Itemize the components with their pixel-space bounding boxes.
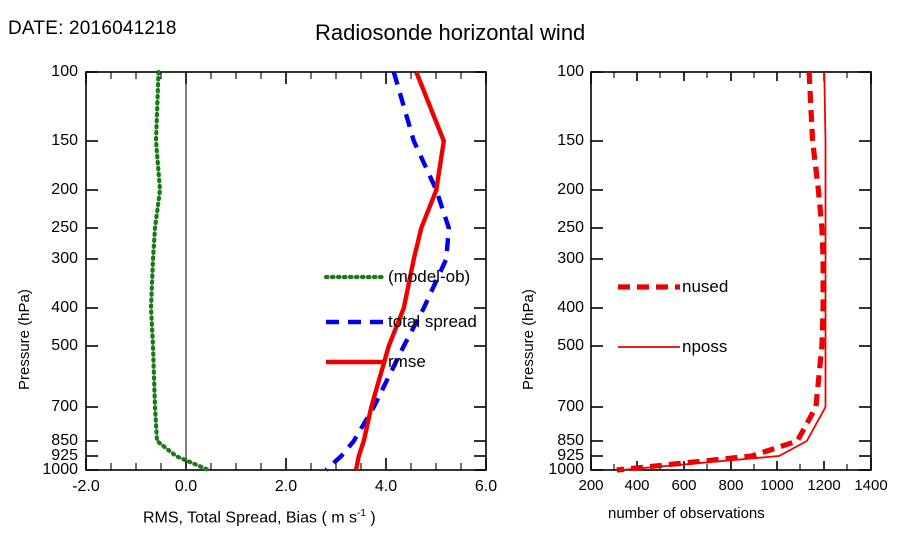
right-ytick-label-0: 100 <box>528 63 584 81</box>
right-xtick-label-0: 200 <box>566 477 616 494</box>
right-ytick-label-3: 250 <box>528 219 584 237</box>
series-nposs-line <box>621 72 825 470</box>
legend-label-model-ob: (model-ob) <box>388 267 470 287</box>
left-xtick-label-0: -2.0 <box>60 478 112 496</box>
right-ytick-label-6: 500 <box>528 337 584 355</box>
right-xtick-label-6: 1400 <box>846 477 896 494</box>
legend-label-nused: nused <box>682 277 728 297</box>
left-xtick-label-2: 2.0 <box>260 478 312 496</box>
right-xtick-label-1: 400 <box>612 477 662 494</box>
right-xtick-label-2: 600 <box>659 477 709 494</box>
right-ytick-label-7: 700 <box>528 398 584 416</box>
left-ytick-label-2: 200 <box>24 181 78 199</box>
right-xtick-label-5: 1200 <box>799 477 849 494</box>
left-panel: Pressure (hPa) RMS, Total Spread, Bias (… <box>0 0 500 560</box>
xlabel-post: ) <box>366 509 376 526</box>
left-ytick-label-1: 150 <box>24 132 78 150</box>
right-ytick-label-5: 400 <box>528 299 584 317</box>
left-xtick-label-1: 0.0 <box>160 478 212 496</box>
left-panel-xlabel: RMS, Total Spread, Bias ( m s-1 ) <box>143 508 376 527</box>
right-xtick-label-3: 800 <box>706 477 756 494</box>
left-ytick-label-4: 300 <box>24 250 78 268</box>
left-xtick-label-3: 4.0 <box>360 478 412 496</box>
left-ytick-label-3: 250 <box>24 219 78 237</box>
legend-label-rmse: rmse <box>388 352 426 372</box>
series-model-ob-line <box>151 72 209 470</box>
series-nused-line <box>617 72 823 470</box>
right-panel-xlabel: number of observations <box>608 505 765 522</box>
left-ytick-label-10: 1000 <box>14 461 78 479</box>
left-ytick-label-6: 500 <box>24 337 78 355</box>
legend-label-total-spread: total spread <box>388 312 477 332</box>
left-ytick-label-5: 400 <box>24 299 78 317</box>
right-panel: Pressure (hPa) number of observations <box>500 0 900 560</box>
xlabel-pre: RMS, Total Spread, Bias ( m s <box>143 509 357 526</box>
right-y-ticks <box>591 72 871 470</box>
legend-label-nposs: nposs <box>682 337 727 357</box>
right-xtick-label-4: 1000 <box>752 477 802 494</box>
right-plot-frame <box>591 72 871 470</box>
left-ytick-label-0: 100 <box>24 63 78 81</box>
figure-root: DATE: 2016041218 Radiosonde horizontal w… <box>0 0 900 560</box>
xlabel-sup: -1 <box>357 508 366 519</box>
right-ytick-label-1: 150 <box>528 132 584 150</box>
right-ytick-label-4: 300 <box>528 250 584 268</box>
left-ytick-label-7: 700 <box>24 398 78 416</box>
right-x-major-ticks <box>591 72 871 470</box>
right-ytick-label-2: 200 <box>528 181 584 199</box>
